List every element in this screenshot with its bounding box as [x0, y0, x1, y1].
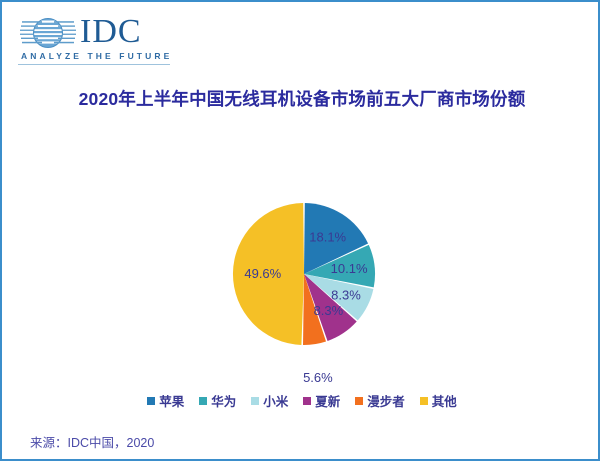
chart-page: IDC ANALYZE THE FUTURE 2020年上半年中国无线耳机设备市… [0, 0, 600, 461]
legend-item-label: 漫步者 [367, 391, 405, 410]
legend-item[interactable]: 其他 [420, 391, 457, 410]
legend-item[interactable]: 夏新 [303, 391, 340, 410]
pie-chart-svg: 18.1%10.1%8.3%8.3%5.6%49.6% [2, 162, 600, 387]
legend-item[interactable]: 小米 [251, 391, 288, 410]
legend-item-label: 华为 [211, 391, 236, 410]
legend-item-label: 夏新 [315, 391, 340, 410]
pie-slice-value-label: 49.6% [244, 266, 281, 281]
idc-logo: IDC ANALYZE THE FUTURE [18, 14, 168, 60]
chart-title: 2020年上半年中国无线耳机设备市场前五大厂商市场份额 [52, 84, 552, 114]
legend-item[interactable]: 苹果 [147, 391, 184, 410]
pie-slice-value-label: 8.3% [314, 303, 344, 318]
pie-slice-value-label: 5.6% [303, 370, 333, 385]
legend-item[interactable]: 华为 [199, 391, 236, 410]
pie-slice-value-label: 10.1% [331, 261, 368, 276]
pie-chart: 18.1%10.1%8.3%8.3%5.6%49.6% [2, 162, 600, 387]
legend-item-label: 小米 [263, 391, 288, 410]
idc-wordmark: IDC [80, 12, 142, 52]
idc-tagline: ANALYZE THE FUTURE [21, 51, 172, 61]
chart-legend: 苹果华为小米夏新漫步者其他 [2, 391, 600, 410]
legend-item[interactable]: 漫步者 [355, 391, 405, 410]
legend-swatch-icon [355, 397, 363, 405]
legend-swatch-icon [303, 397, 311, 405]
legend-swatch-icon [420, 397, 428, 405]
legend-item-label: 其他 [432, 391, 457, 410]
pie-slice-value-label: 18.1% [309, 229, 346, 244]
legend-swatch-icon [147, 397, 155, 405]
legend-item-label: 苹果 [159, 391, 184, 410]
idc-globe-icon [20, 16, 76, 50]
logo-divider [18, 64, 170, 65]
legend-swatch-icon [251, 397, 259, 405]
legend-swatch-icon [199, 397, 207, 405]
source-note: 来源：IDC中国，2020 [30, 432, 154, 451]
pie-slice-value-label: 8.3% [331, 287, 361, 302]
